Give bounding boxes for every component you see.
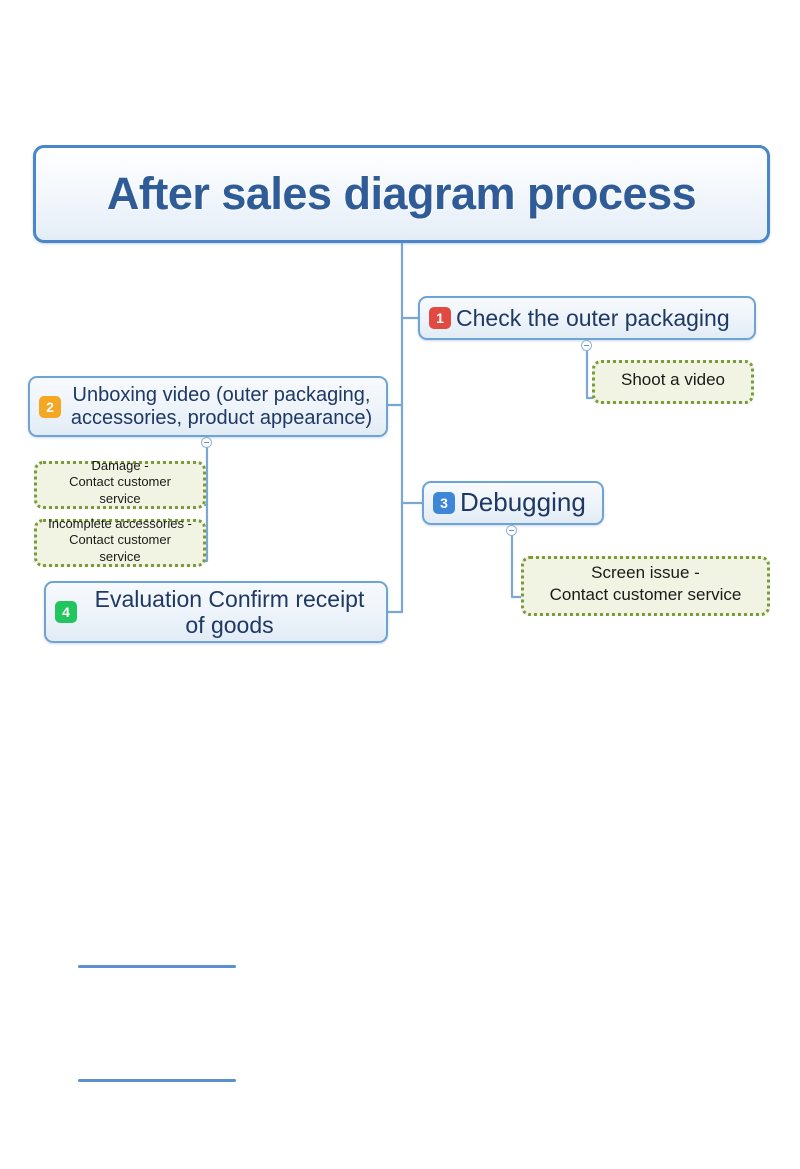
mindmap-canvas: After sales diagram process 1 Check the … [0, 0, 800, 800]
leaf-node-damage[interactable]: Damage - Contact customer service [34, 461, 206, 509]
branch-badge-3: 3 [433, 492, 455, 514]
branch-node-1[interactable]: 1 Check the outer packaging [418, 296, 756, 340]
collapse-minus-icon-branch-2[interactable] [201, 437, 212, 448]
branch-node-3[interactable]: 3 Debugging [422, 481, 604, 525]
leaf-underline-damage [78, 965, 236, 968]
leaf-node-incomplete-accessories[interactable]: Incomplete accessories - Contact custome… [34, 519, 206, 567]
branch-node-4[interactable]: 4 Evaluation Confirm receipt of goods [44, 581, 388, 643]
branch-label-1: Check the outer packaging [456, 305, 745, 331]
branch-label-4: Evaluation Confirm receipt of goods [82, 586, 377, 639]
leaf-label-screen-issue: Screen issue - Contact customer service [550, 562, 742, 605]
branch-badge-2: 2 [39, 396, 61, 418]
collapse-minus-icon-branch-1[interactable] [581, 340, 592, 351]
root-node-title[interactable]: After sales diagram process [33, 145, 770, 243]
leaf-label-damage: Damage - Contact customer service [47, 458, 193, 507]
branch-node-2[interactable]: 2 Unboxing video (outer packaging, acces… [28, 376, 388, 437]
collapse-minus-icon-branch-3[interactable] [506, 525, 517, 536]
branch-label-2: Unboxing video (outer packaging, accesso… [66, 384, 377, 430]
leaf-underline-incomplete-accessories [78, 1079, 236, 1082]
branch-label-3: Debugging [460, 488, 593, 518]
leaf-node-screen-issue[interactable]: Screen issue - Contact customer service [521, 556, 770, 616]
root-node-label: After sales diagram process [107, 168, 696, 220]
leaf-node-shoot-a-video[interactable]: Shoot a video [592, 360, 754, 404]
leaf-label-shoot-a-video: Shoot a video [621, 369, 725, 390]
branch-badge-4: 4 [55, 601, 77, 623]
leaf-label-incomplete-accessories: Incomplete accessories - Contact custome… [47, 516, 193, 565]
branch-badge-1: 1 [429, 307, 451, 329]
